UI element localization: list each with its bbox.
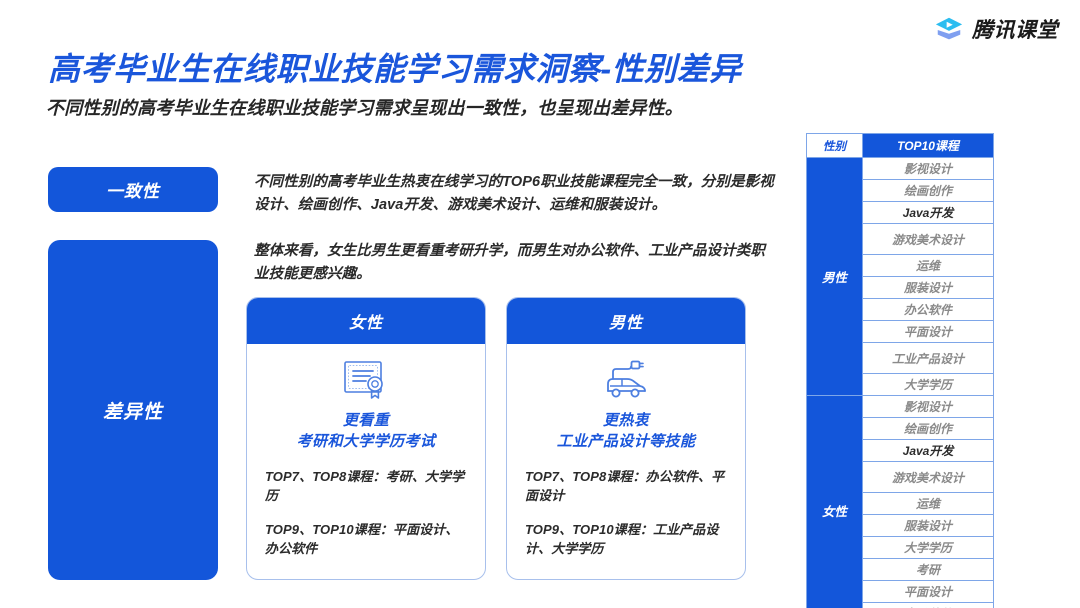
course-cell: 考研 (863, 559, 994, 581)
consistency-pill: 一致性 (48, 167, 218, 212)
table-row: 女性影视设计 (807, 396, 994, 418)
brand-logo-text: 腾讯课堂 (972, 14, 1058, 44)
card-header-male: 男性 (507, 298, 745, 344)
course-cell: 游戏美术设计 (863, 462, 994, 493)
table-row: 男性影视设计 (807, 158, 994, 180)
course-cell: 影视设计 (863, 396, 994, 418)
card-highlight-male-line2: 工业产品设计等技能 (557, 431, 696, 452)
course-cell: 办公软件 (863, 603, 994, 608)
card-note-male-1: TOP7、TOP8课程：办公软件、平面设计 (525, 467, 727, 506)
course-cell: 运维 (863, 493, 994, 515)
difference-paragraph: 整体来看，女生比男生更看重考研升学，而男生对办公软件、工业产品设计类职业技能更感… (254, 240, 774, 287)
table-head: 性别 TOP10课程 (807, 134, 994, 158)
course-cell: Java开发 (863, 440, 994, 462)
card-note-female-1: TOP7、TOP8课程：考研、大学学历 (265, 467, 467, 506)
card-highlight-male: 更热衷 工业产品设计等技能 (557, 410, 696, 453)
course-cell: 服装设计 (863, 515, 994, 537)
card-body-female: 更看重 考研和大学学历考试 TOP7、TOP8课程：考研、大学学历 TOP9、T… (247, 344, 485, 580)
column-header-course: TOP10课程 (863, 134, 994, 158)
course-cell: 大学学历 (863, 374, 994, 396)
card-note-male-2: TOP9、TOP10课程：工业产品设计、大学学历 (525, 520, 727, 559)
gender-card-female: 女性 更看重 考研和大学学历考试 TOP7、TOP8课程：考研、大学学历 TOP… (246, 297, 486, 580)
consistency-paragraph: 不同性别的高考毕业生热衷在线学习的TOP6职业技能课程完全一致，分别是影视设计、… (254, 171, 774, 218)
page-subtitle: 不同性别的高考毕业生在线职业技能学习需求呈现出一致性，也呈现出差异性。 (46, 94, 683, 120)
card-highlight-female-line2: 考研和大学学历考试 (297, 431, 436, 452)
electric-car-charging-icon (600, 358, 652, 402)
course-cell: 办公软件 (863, 299, 994, 321)
card-highlight-female: 更看重 考研和大学学历考试 (297, 410, 436, 453)
page-title: 高考毕业生在线职业技能学习需求洞察-性别差异 (48, 44, 742, 90)
card-note-female-2: TOP9、TOP10课程：平面设计、办公软件 (265, 520, 467, 559)
course-cell: 工业产品设计 (863, 343, 994, 374)
brand-logo: 腾讯课堂 (934, 14, 1058, 44)
course-cell: 平面设计 (863, 581, 994, 603)
course-cell: 游戏美术设计 (863, 224, 994, 255)
course-cell: 绘画创作 (863, 418, 994, 440)
table-header-row: 性别 TOP10课程 (807, 134, 994, 158)
slide-root: 腾讯课堂 高考毕业生在线职业技能学习需求洞察-性别差异 不同性别的高考毕业生在线… (0, 0, 1080, 608)
course-cell: 服装设计 (863, 277, 994, 299)
card-highlight-male-line1: 更热衷 (603, 412, 649, 429)
certificate-diploma-icon (340, 358, 392, 402)
course-cell: 平面设计 (863, 321, 994, 343)
card-body-male: 更热衷 工业产品设计等技能 TOP7、TOP8课程：办公软件、平面设计 TOP9… (507, 344, 745, 580)
course-cell: 影视设计 (863, 158, 994, 180)
course-cell: 大学学历 (863, 537, 994, 559)
difference-pill-label: 差异性 (103, 397, 163, 424)
course-cell: 运维 (863, 255, 994, 277)
course-cell: 绘画创作 (863, 180, 994, 202)
column-header-gender: 性别 (807, 134, 863, 158)
card-header-female: 女性 (247, 298, 485, 344)
consistency-pill-label: 一致性 (106, 177, 160, 202)
card-highlight-female-line1: 更看重 (343, 412, 389, 429)
difference-pill: 差异性 (48, 240, 218, 580)
gender-group-cell: 女性 (807, 396, 863, 608)
graduation-cap-play-icon (934, 14, 964, 44)
course-cell: Java开发 (863, 202, 994, 224)
top10-course-table: 性别 TOP10课程 男性影视设计绘画创作Java开发游戏美术设计运维服装设计办… (806, 133, 994, 608)
gender-card-male: 男性 更热衷 工业产品设计等技能 TOP7、TOP8课程：办公软件、平面设计 T… (506, 297, 746, 580)
gender-group-cell: 男性 (807, 158, 863, 396)
table-body: 男性影视设计绘画创作Java开发游戏美术设计运维服装设计办公软件平面设计工业产品… (807, 158, 994, 608)
